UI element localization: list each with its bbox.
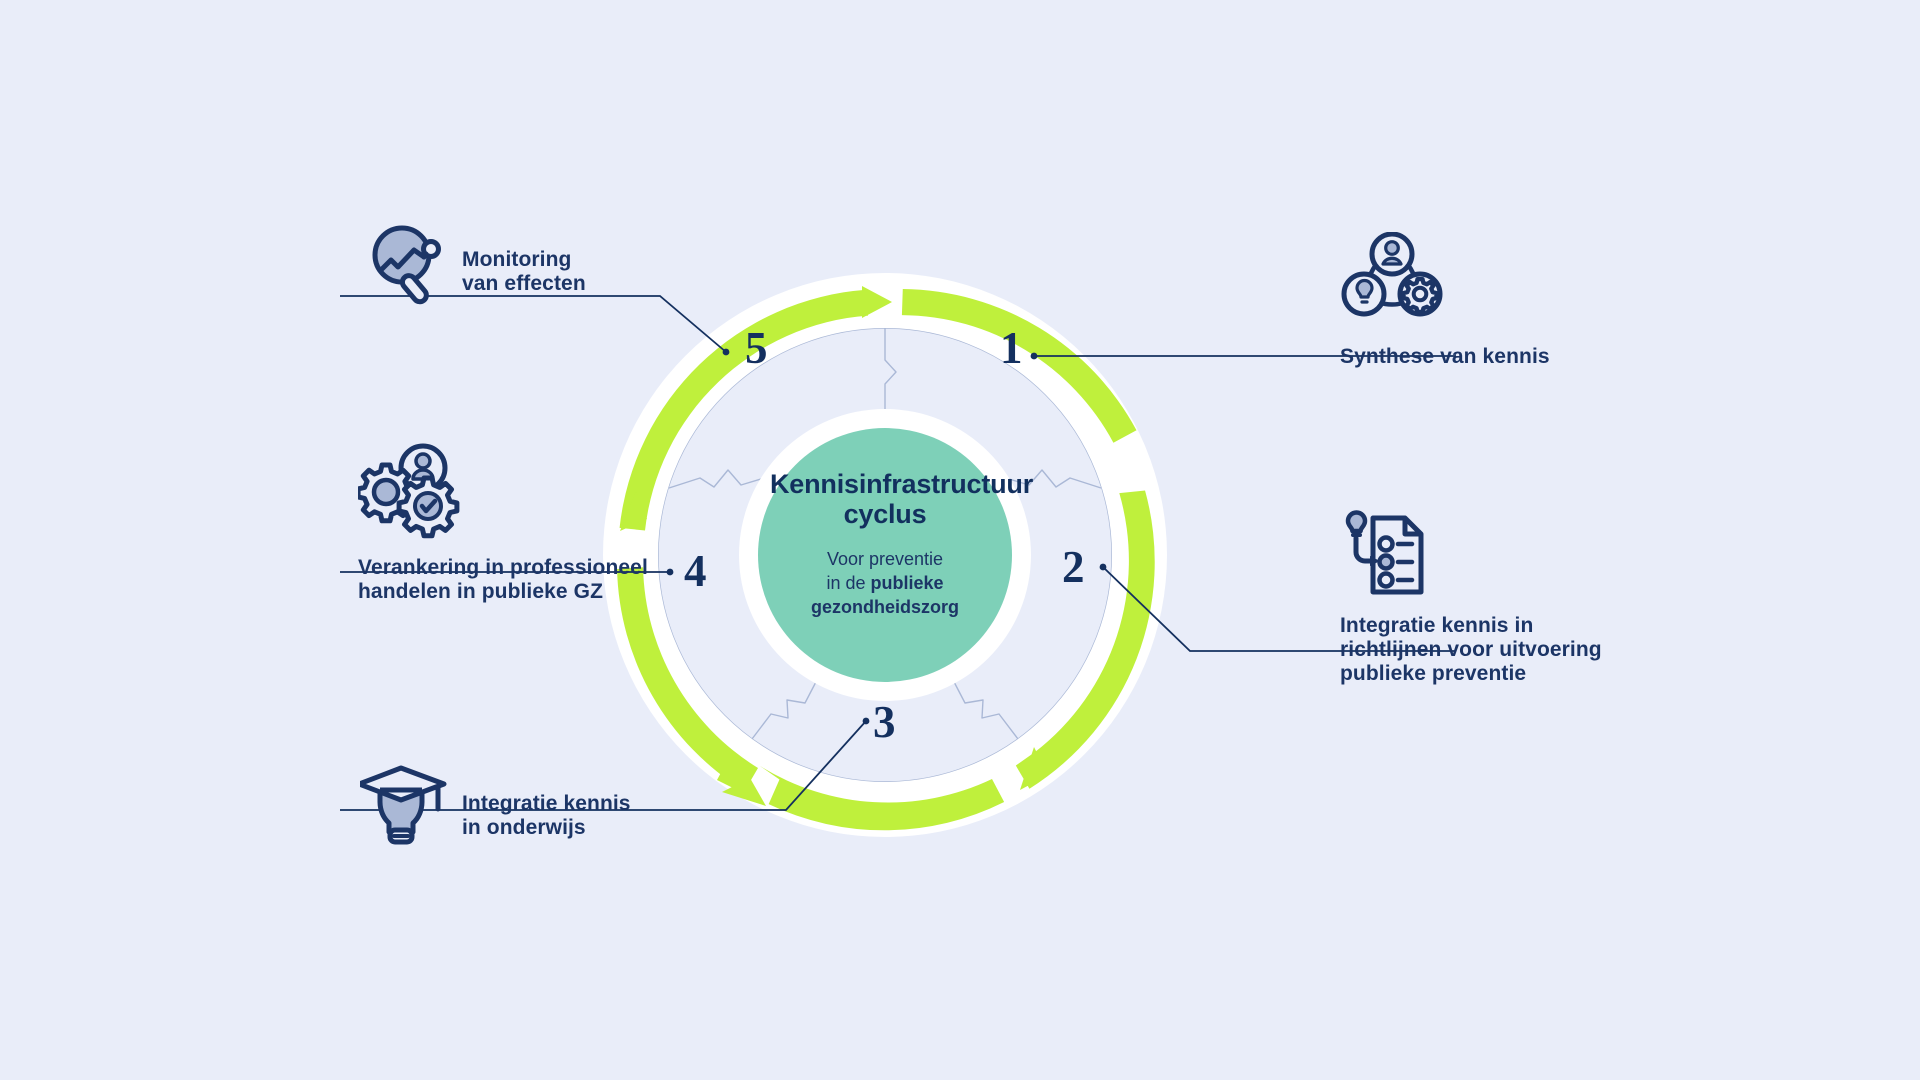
step-label-3: Integratie kennis in onderwijs	[462, 792, 631, 840]
center-sub-line2-plain: in de	[826, 573, 870, 593]
center-title-line2: cyclus	[770, 500, 1000, 530]
gears-person-check-icon	[358, 440, 462, 540]
step-number-5: 5	[745, 326, 768, 371]
center-sub-line3-bold: gezondheidszorg	[811, 597, 959, 617]
step-number-4: 4	[684, 549, 707, 594]
step-number-3: 3	[873, 700, 896, 745]
center-sub-line1: Voor preventie	[770, 548, 1000, 572]
leader-dot-2	[1100, 564, 1107, 571]
graduation-cap-lightbulb-icon	[360, 760, 452, 852]
center-sub-line2: in de publieke	[770, 572, 1000, 596]
center-sub-line2-bold: publieke	[871, 573, 944, 593]
step-number-2: 2	[1062, 545, 1085, 590]
step-label-1: Synthese van kennis	[1340, 345, 1550, 369]
leader-dot-1	[1031, 353, 1038, 360]
step-number-1: 1	[1000, 326, 1023, 371]
step-label-4: Verankering in professioneel handelen in…	[358, 556, 648, 604]
document-checklist-lightbulb-icon	[1340, 508, 1444, 604]
step-label-2: Integratie kennis in richtlijnen voor ui…	[1340, 614, 1602, 686]
infographic-canvas: 5 1 2 4 3 Kennisinfrastructuur cyclus Vo…	[0, 0, 1920, 1080]
center-sub-line3: gezondheidszorg	[770, 596, 1000, 620]
leader-dot-4	[667, 569, 674, 576]
leader-dot-3	[863, 718, 870, 725]
magnifier-trendline-icon	[360, 222, 456, 306]
center-subtitle: Voor preventie in de publieke gezondheid…	[770, 548, 1000, 619]
center-text-block: Kennisinfrastructuur cyclus Voor prevent…	[770, 470, 1000, 620]
center-title-line1: Kennisinfrastructuur	[770, 470, 1000, 500]
step-label-5: Monitoring van effecten	[462, 248, 586, 296]
three-circles-network-icon	[1340, 232, 1444, 320]
leader-dot-5	[723, 349, 730, 356]
